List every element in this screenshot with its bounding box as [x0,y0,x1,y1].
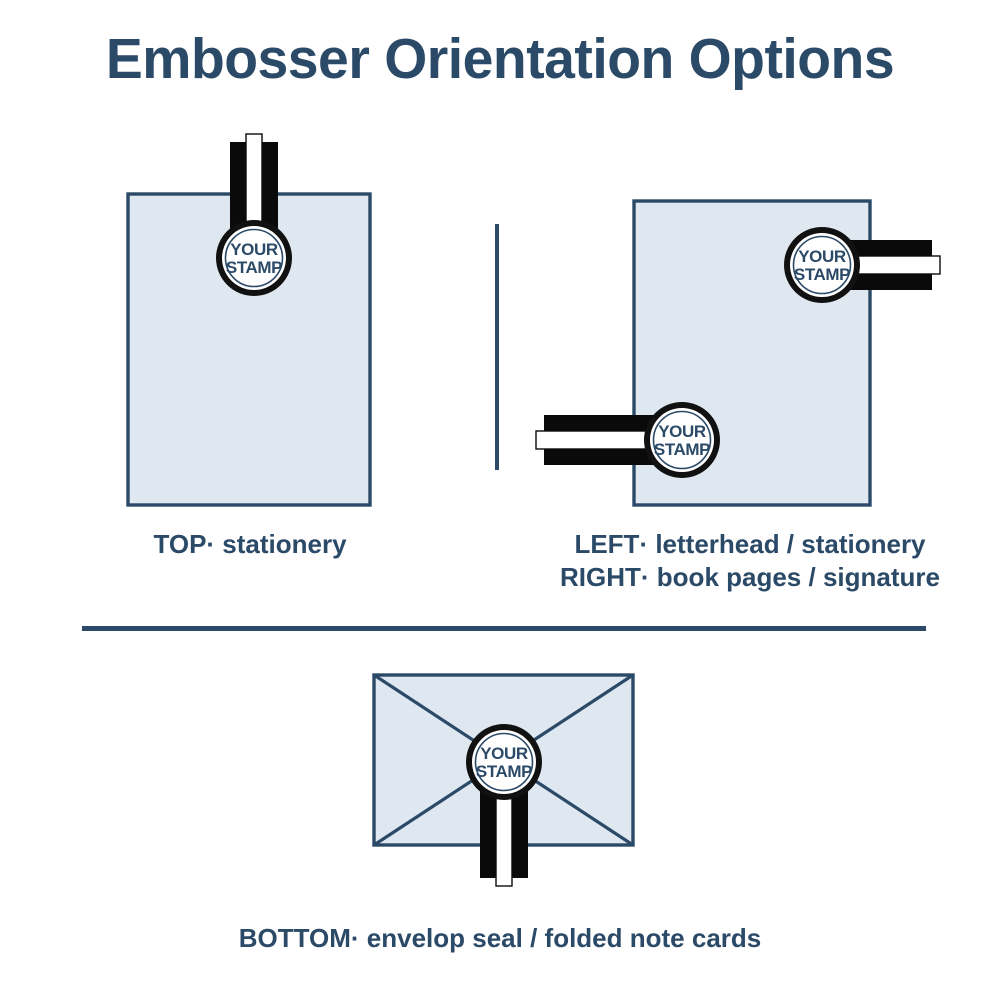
svg-text:STAMP: STAMP [794,265,850,284]
diagram-artwork: YOUR STAMP YOUR STAMP YOUR [0,0,1000,1000]
svg-text:YOUR: YOUR [480,744,528,763]
caption-left-line: LEFT· letterhead / stationery [510,528,990,561]
svg-text:STAMP: STAMP [476,762,532,781]
caption-bottom: BOTTOM· envelop seal / folded note cards [140,922,860,955]
svg-text:YOUR: YOUR [658,422,706,441]
caption-left-right: LEFT· letterhead / stationery RIGHT· boo… [510,528,990,595]
svg-text:YOUR: YOUR [230,240,278,259]
svg-text:YOUR: YOUR [798,247,846,266]
stamp-seal-left: YOUR STAMP [644,402,720,478]
top-orientation-panel: YOUR STAMP [128,134,370,505]
stamp-seal-bottom: YOUR STAMP [466,724,542,800]
left-right-orientation-panel: YOUR STAMP YOUR STAMP [536,201,940,505]
panel-divider-horizontal [82,626,926,631]
diagram-canvas: Embosser Orientation Options [0,0,1000,1000]
stamp-seal-top: YOUR STAMP [216,220,292,296]
caption-right-line: RIGHT· book pages / signature [510,561,990,594]
panel-divider-vertical [495,224,499,470]
bottom-orientation-panel: YOUR STAMP [374,675,633,886]
svg-text:STAMP: STAMP [226,258,282,277]
caption-top: TOP· stationery [90,528,410,561]
stamp-seal-right: YOUR STAMP [784,227,860,303]
embosser-handle-left [536,415,654,465]
svg-text:STAMP: STAMP [654,440,710,459]
